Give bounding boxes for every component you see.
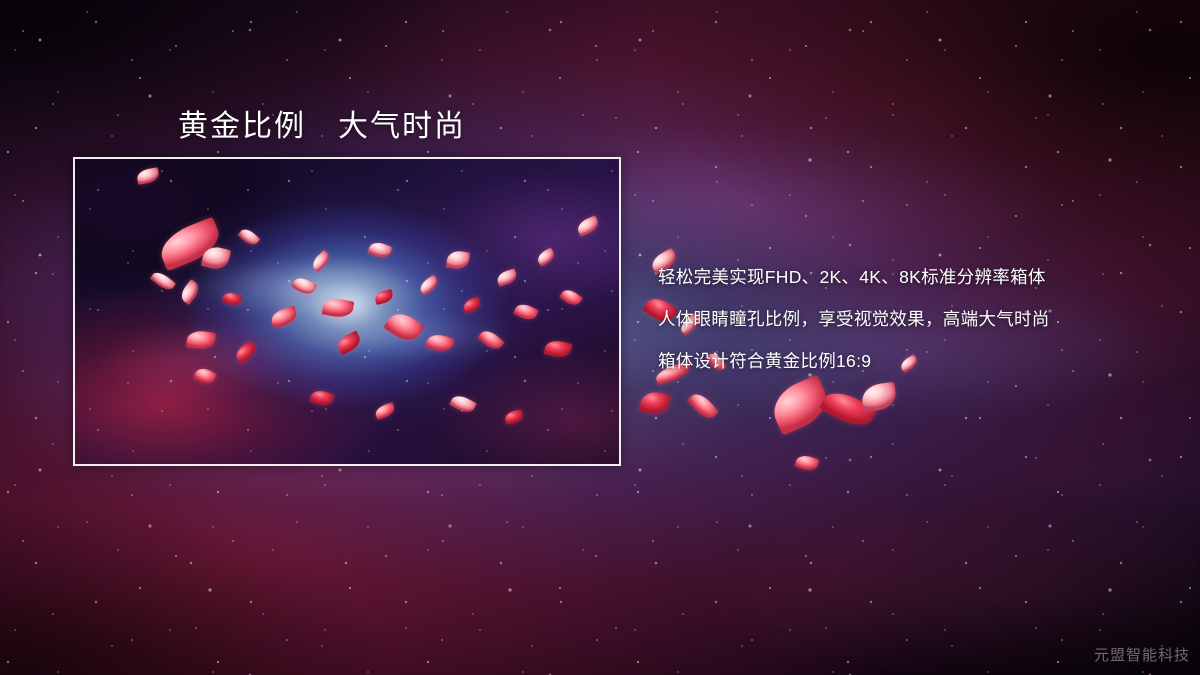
page-title: 黄金比例 大气时尚	[178, 101, 466, 145]
body-line-1: 轻松完美实现FHD、2K、4K、8K标准分辨率箱体	[658, 256, 1158, 298]
body-line-2: 人体眼睛瞳孔比例，享受视觉效果，高端大气时尚	[658, 298, 1158, 340]
body-text-block: 轻松完美实现FHD、2K、4K、8K标准分辨率箱体 人体眼睛瞳孔比例，享受视觉效…	[658, 256, 1158, 382]
image-frame	[73, 157, 621, 466]
slide-root: 黄金比例 大气时尚 轻松完美实现FHD、2K、4K、8K标准分辨率箱体 人体眼睛…	[0, 0, 1200, 675]
body-line-3: 箱体设计符合黄金比例16:9	[658, 340, 1158, 382]
watermark: 元盟智能科技	[1094, 644, 1190, 665]
frame-nebula-wisps	[75, 159, 619, 464]
